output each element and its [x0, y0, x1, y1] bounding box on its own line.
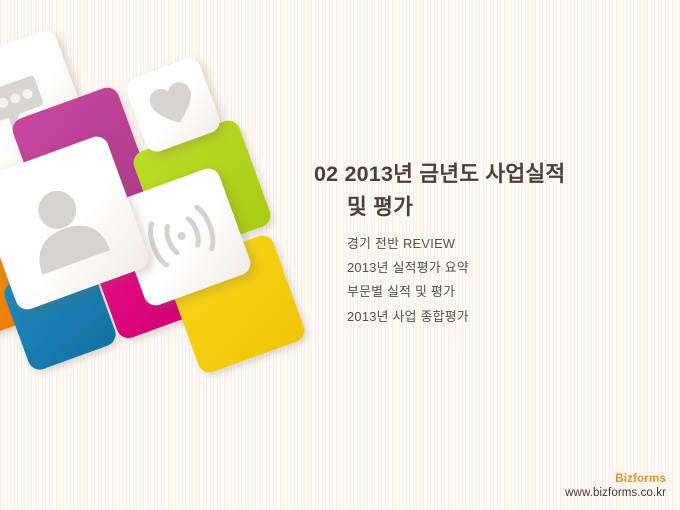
presentation-slide: 02 2013년 금년도 사업실적및 평가 경기 전반 REVIEW 2013년…	[0, 0, 680, 510]
tile-blue	[1, 255, 119, 373]
tile-heart	[123, 55, 223, 155]
tile-orange	[0, 202, 56, 351]
page-title: 02 2013년 금년도 사업실적및 평가	[314, 158, 654, 224]
agenda-list: 경기 전반 REVIEW 2013년 실적평가 요약 부문별 실적 및 평가 2…	[347, 232, 469, 329]
tile-lime	[130, 117, 274, 261]
footer-url[interactable]: www.bizforms.co.kr	[565, 486, 666, 501]
title-block: 02 2013년 금년도 사업실적및 평가	[314, 158, 654, 224]
decorative-tiles-artwork	[0, 20, 330, 360]
tile-chat	[0, 27, 93, 178]
page-title-line-2: 및 평가	[314, 191, 654, 224]
tile-phone	[110, 165, 254, 309]
phone-signal-icon	[110, 165, 254, 309]
tile-pink	[88, 218, 211, 341]
chat-bubble-icon	[0, 27, 93, 178]
footer-brand: Bizforms	[565, 472, 666, 486]
tile-magenta	[9, 84, 153, 228]
list-item: 부문별 실적 및 평가	[347, 280, 469, 304]
tile-yellow	[164, 232, 308, 376]
person-icon	[0, 133, 152, 312]
heart-icon	[123, 55, 223, 155]
list-item: 경기 전반 REVIEW	[347, 232, 469, 256]
tile-person	[0, 133, 152, 312]
footer: Bizforms www.bizforms.co.kr	[565, 472, 666, 501]
list-item: 2013년 실적평가 요약	[347, 256, 469, 280]
page-title-line-1: 02 2013년 금년도 사업실적	[314, 162, 565, 186]
list-item: 2013년 사업 종합평가	[347, 305, 469, 329]
